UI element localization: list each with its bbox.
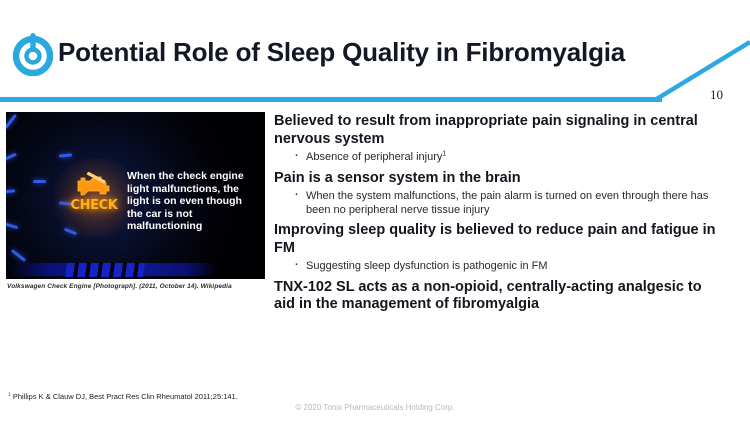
page-title: Potential Role of Sleep Quality in Fibro… — [58, 37, 625, 68]
photo-overlay-text: When the check engine light malfunctions… — [127, 170, 259, 233]
check-engine-label: CHECK — [68, 198, 120, 213]
presentation-slide: Potential Role of Sleep Quality in Fibro… — [0, 0, 750, 422]
bullet-level1: Believed to result from inappropriate pa… — [274, 113, 720, 148]
header-divider-line — [0, 97, 662, 102]
photo-credit-caption: Volkswagen Check Engine [Photograph]. (2… — [7, 283, 232, 290]
footnote: 1 Phillips K & Clauw DJ, Best Pract Res … — [8, 392, 238, 401]
check-engine-icon — [74, 172, 114, 197]
bullet-level2: Absence of peripheral injury1 — [274, 151, 720, 165]
odometer-digits — [65, 263, 145, 277]
dashboard-photo: 60 40 20 20 mph 0 C — [6, 112, 265, 279]
bullet-level1: Pain is a sensor system in the brain — [274, 170, 720, 188]
footnote-text: Phillips K & Clauw DJ, Best Pract Res Cl… — [11, 392, 238, 401]
slide-body-content: Believed to result from inappropriate pa… — [274, 113, 720, 316]
footnote-ref: 1 — [442, 148, 446, 157]
header-diagonal-accent — [655, 40, 750, 102]
bullet-level2: When the system malfunctions, the pain a… — [274, 190, 720, 217]
bullet-level1: Improving sleep quality is believed to r… — [274, 222, 720, 257]
bullet-level2: Suggesting sleep dysfunction is pathogen… — [274, 260, 720, 274]
gauge-tick — [33, 180, 46, 183]
bullet-level1: TNX-102 SL acts as a non-opioid, central… — [274, 279, 720, 314]
page-number: 10 — [710, 87, 723, 103]
check-engine-warning: CHECK — [68, 172, 120, 220]
tonix-power-logo-icon — [12, 28, 54, 76]
bullet-text: Absence of peripheral injury — [306, 151, 442, 163]
copyright-notice: © 2020 Tonix Pharmaceuticals Holding Cor… — [0, 403, 750, 412]
